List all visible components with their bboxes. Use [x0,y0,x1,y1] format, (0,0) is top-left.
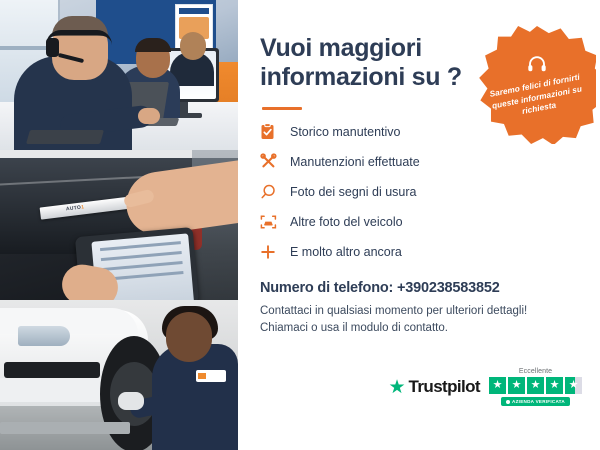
promo-banner: AUTO1 Vuoi maggiori informaz [0,0,600,450]
rating-star-4: ★ [546,377,563,394]
phone-number-line[interactable]: Numero di telefono: +390238583852 [260,280,578,296]
trustpilot-wordmark: Trustpilot [409,377,480,397]
background-worker-2-hair [135,38,171,52]
headset-icon [527,55,547,78]
rating-star-3: ★ [527,377,544,394]
photo-vehicle-damage-inspection-ruler-tablet: AUTO1 [0,150,238,300]
list-item-molto-altro-ancora: E molto altro ancora [260,242,578,262]
trustpilot-rating-block: Eccellente ★ ★ ★ ★ ★ AZIENDA VERIFICATA [489,368,582,406]
verified-badge-label: AZIENDA VERIFICATA [512,399,565,404]
plus-icon [260,242,282,262]
list-item-label: Altre foto del veicolo [290,215,403,229]
contact-subtext-line-2: Chiamaci o usa il modulo di contatto. [260,320,578,337]
list-item-foto-segni-usura: Foto dei segni di usura [260,182,578,202]
car-scan-icon [260,212,282,232]
list-item-label: Storico manutentivo [290,125,400,139]
headset-earcup [46,38,59,57]
list-item-manutenzioni-effettuate: Manutenzioni effettuate [260,152,578,172]
status-badge-verified-company: AZIENDA VERIFICATA [501,397,570,406]
car-headlight [18,326,70,346]
clipboard-check-icon [260,122,282,142]
mechanic-glove [118,392,144,410]
contact-subtext: Contattaci in qualsiasi momento per ulte… [260,303,578,338]
trustpilot-star-icon: ★ [389,378,406,397]
content-panel: Vuoi maggiori informazioni su ? Storico … [238,0,600,450]
title-underline-rule [262,107,302,110]
car-grille [4,362,100,378]
trustpilot-rating-caption: Eccellente [519,368,552,375]
contact-subtext-line-1: Contattaci in qualsiasi momento per ulte… [260,303,578,320]
rating-star-1: ★ [489,377,506,394]
foreground-agent-hand [138,108,160,124]
background-worker-3-head [180,32,206,60]
magnifier-icon [260,182,282,202]
photo-column: AUTO1 [0,0,238,450]
list-item-label: Foto dei segni di usura [290,185,416,199]
photo-call-center-agents-with-headsets [0,0,238,150]
rating-star-5-partial: ★ [565,377,582,394]
verified-check-icon [506,400,510,404]
starburst-badge-text: Saremo felici di fornirti queste informa… [487,71,588,124]
list-item-altre-foto-veicolo: Altre foto del veicolo [260,212,578,232]
desk-keyboard [26,130,104,144]
page-title: Vuoi maggiori informazioni su ? [260,34,475,93]
tools-cross-icon [260,152,282,172]
vehicle-lift-arm [0,422,130,434]
trustpilot-logo: ★ Trustpilot [389,377,481,397]
rating-star-2: ★ [508,377,525,394]
list-item-label: Manutenzioni effettuate [290,155,420,169]
mechanic-head [166,312,212,362]
trustpilot-widget[interactable]: ★ Trustpilot Eccellente ★ ★ ★ ★ ★ AZIEND… [389,368,583,406]
trustpilot-star-rating: ★ ★ ★ ★ ★ [489,377,582,394]
photo-mechanic-inspecting-wheel [0,300,238,450]
ruler-logo-text: AUTO1 [66,204,85,212]
list-item-label: E molto altro ancora [290,245,402,259]
uniform-logo-patch [196,370,226,382]
